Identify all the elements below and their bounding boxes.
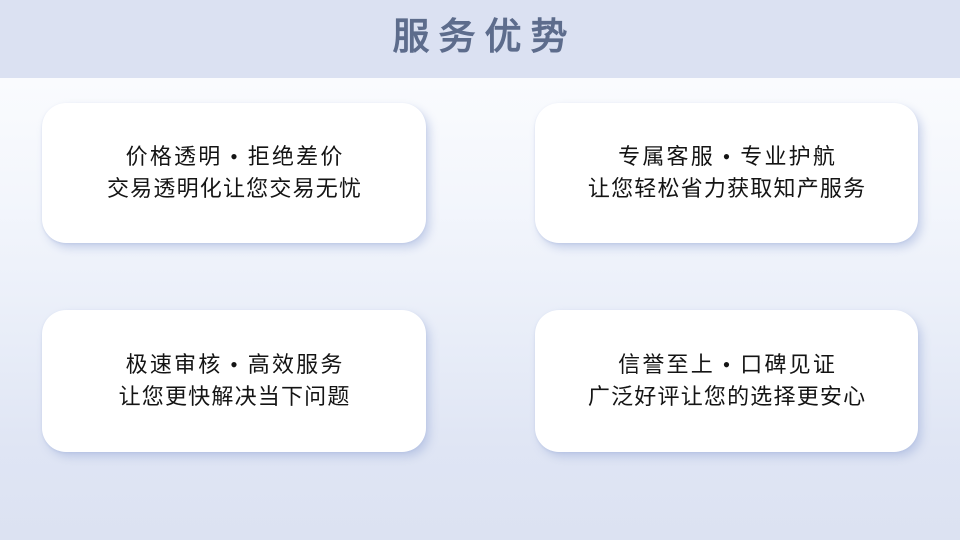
advantage-card-reputation[interactable]: 信誉至上 • 口碑见证 广泛好评让您的选择更安心 bbox=[535, 310, 918, 452]
advantage-card-description: 让您更快解决当下问题 bbox=[117, 381, 350, 413]
advantage-card-headline: 专属客服 • 专业护航 bbox=[616, 141, 837, 173]
slide-root: 服务优势 价格透明 • 拒绝差价 交易透明化让您交易无忧 专属客服 • 专业护航… bbox=[0, 0, 960, 540]
advantage-card-description: 广泛好评让您的选择更安心 bbox=[587, 381, 867, 413]
advantage-card-headline: 价格透明 • 拒绝差价 bbox=[123, 141, 344, 173]
advantage-card-headline: 信誉至上 • 口碑见证 bbox=[616, 349, 837, 381]
advantage-card-dedicated-service[interactable]: 专属客服 • 专业护航 让您轻松省力获取知产服务 bbox=[535, 103, 918, 243]
advantage-card-fast-review[interactable]: 极速审核 • 高效服务 让您更快解决当下问题 bbox=[42, 310, 426, 452]
advantage-card-headline: 极速审核 • 高效服务 bbox=[123, 349, 344, 381]
advantage-card-description: 交易透明化让您交易无忧 bbox=[106, 173, 362, 205]
advantage-card-description: 让您轻松省力获取知产服务 bbox=[587, 173, 867, 205]
advantage-card-price-transparency[interactable]: 价格透明 • 拒绝差价 交易透明化让您交易无忧 bbox=[42, 103, 426, 243]
page-title: 服务优势 bbox=[0, 14, 960, 62]
advantage-cards-grid: 价格透明 • 拒绝差价 交易透明化让您交易无忧 专属客服 • 专业护航 让您轻松… bbox=[0, 78, 960, 540]
